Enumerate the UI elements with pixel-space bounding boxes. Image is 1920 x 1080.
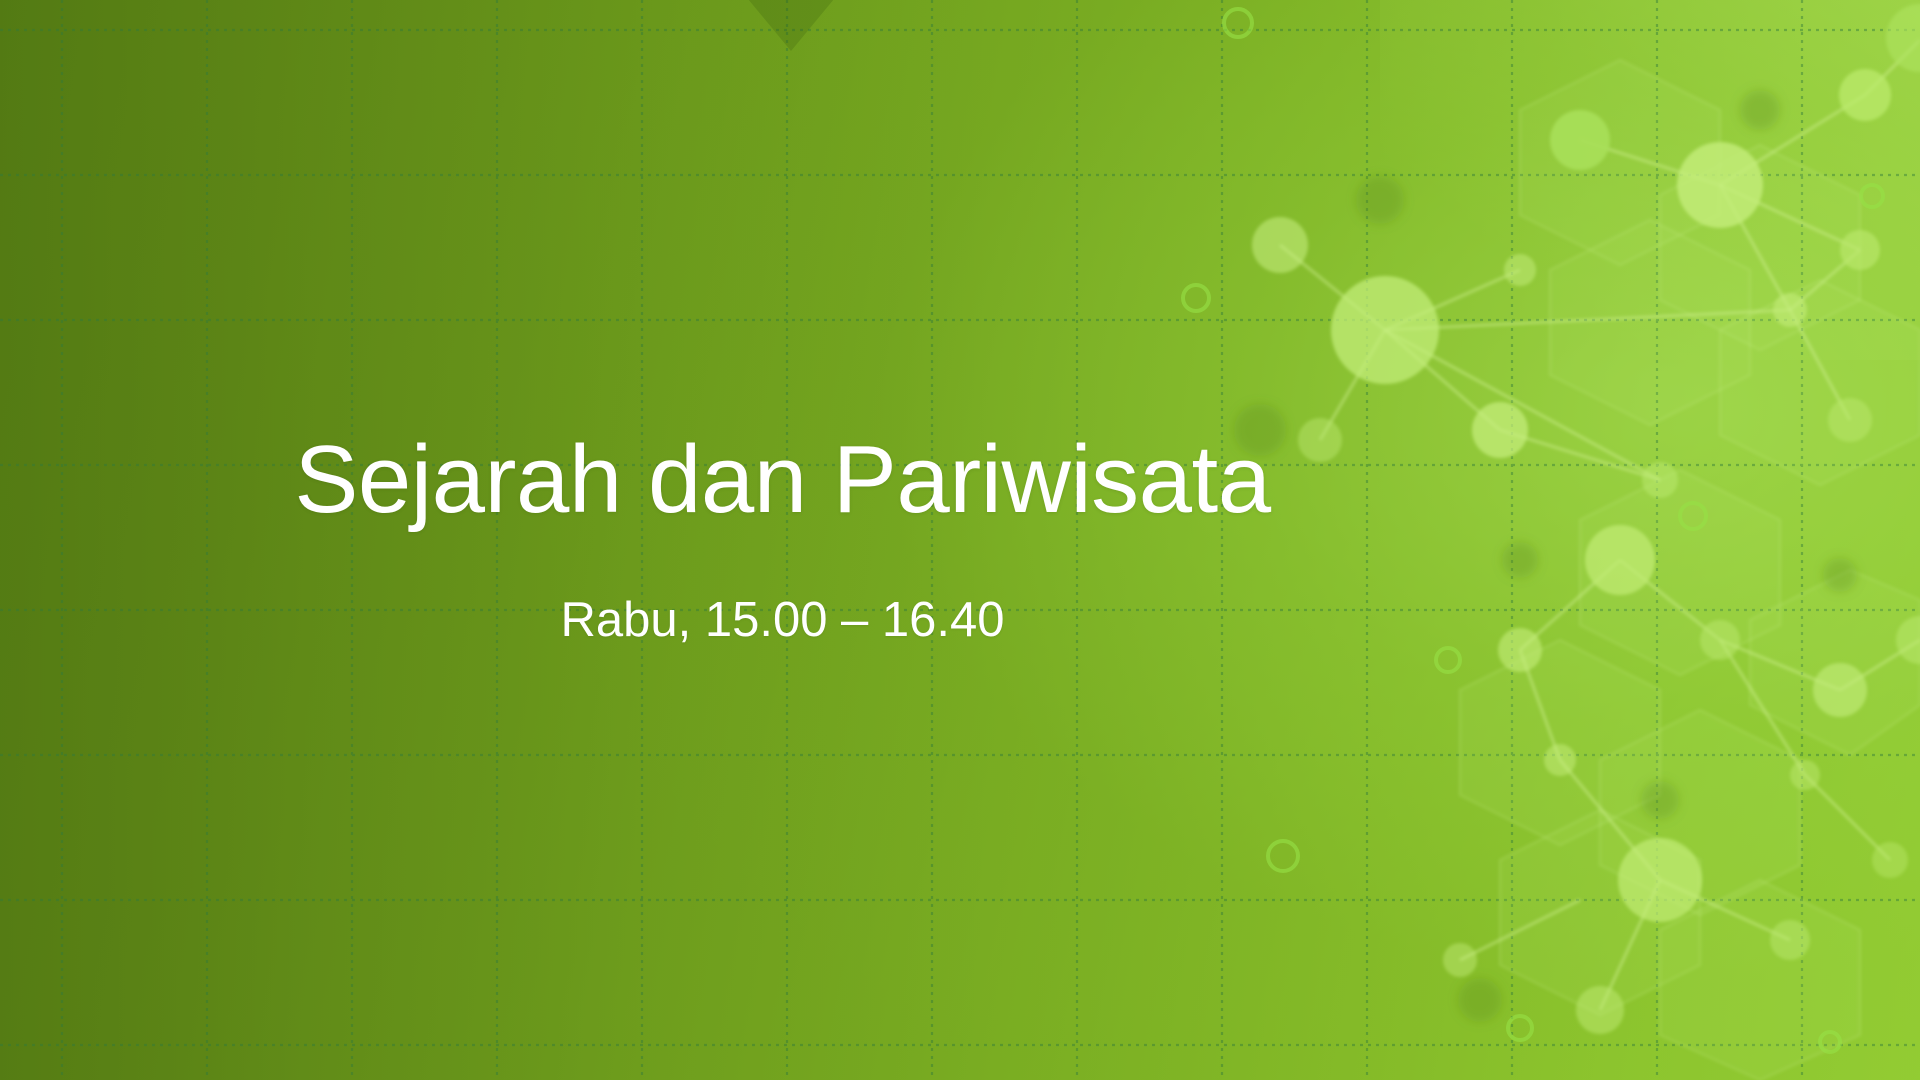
slide-subtitle: Rabu, 15.00 – 16.40 [560,591,1004,650]
page-title: Sejarah dan Pariwisata [294,430,1270,531]
slide-text-block: Sejarah dan Pariwisata Rabu, 15.00 – 16.… [0,0,1565,1080]
presentation-slide: Sejarah dan Pariwisata Rabu, 15.00 – 16.… [0,0,1920,1080]
